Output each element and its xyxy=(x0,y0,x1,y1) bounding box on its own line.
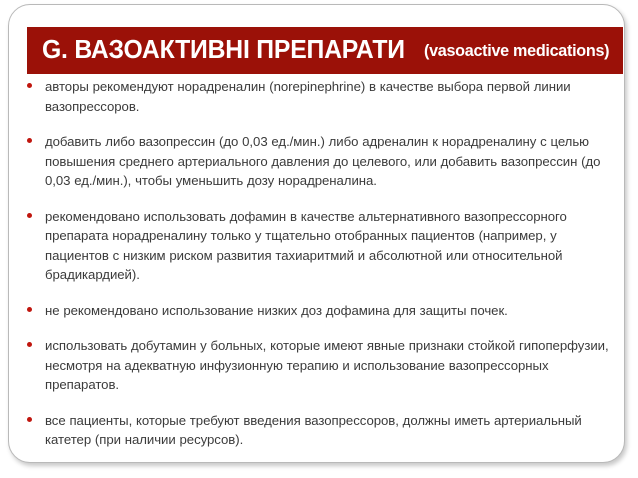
bullet-dot-icon xyxy=(27,307,32,312)
list-item-text: не рекомендовано использование низких до… xyxy=(45,301,616,321)
list-item-text: рекомендовано использовать дофамин в кач… xyxy=(45,207,616,285)
slide-title-bar: G. ВАЗОАКТИВНІ ПРЕПАРАТИ (vasoactive med… xyxy=(27,27,623,74)
list-item: авторы рекомендуют норадреналин (norepin… xyxy=(9,77,624,116)
list-item: использовать добутамин у больных, которы… xyxy=(9,336,624,395)
list-item-text: авторы рекомендуют норадреналин (norepin… xyxy=(45,77,616,116)
title-subtitle: (vasoactive medications) xyxy=(424,41,609,61)
bullet-dot-icon xyxy=(27,213,32,218)
list-item: добавить либо вазопрессин (до 0,03 ед./м… xyxy=(9,132,624,191)
list-item-text: добавить либо вазопрессин (до 0,03 ед./м… xyxy=(45,132,616,191)
list-item: не рекомендовано использование низких до… xyxy=(9,301,624,321)
list-item: все пациенты, которые требуют введения в… xyxy=(9,411,624,450)
bullet-dot-icon xyxy=(27,138,32,143)
page-title: G. ВАЗОАКТИВНІ ПРЕПАРАТИ xyxy=(42,36,405,65)
list-item: рекомендовано использовать дофамин в кач… xyxy=(9,207,624,285)
bullet-list: авторы рекомендуют норадреналин (norepin… xyxy=(9,77,624,463)
bullet-dot-icon xyxy=(27,342,32,347)
title-text: ВАЗОАКТИВНІ ПРЕПАРАТИ xyxy=(74,36,404,64)
slide-frame: G. ВАЗОАКТИВНІ ПРЕПАРАТИ (vasoactive med… xyxy=(8,4,625,463)
bullet-dot-icon xyxy=(27,83,32,88)
bullet-dot-icon xyxy=(27,417,32,422)
list-item-text: использовать добутамин у больных, которы… xyxy=(45,336,616,395)
title-prefix: G. xyxy=(42,36,68,64)
list-item-text: все пациенты, которые требуют введения в… xyxy=(45,411,616,450)
